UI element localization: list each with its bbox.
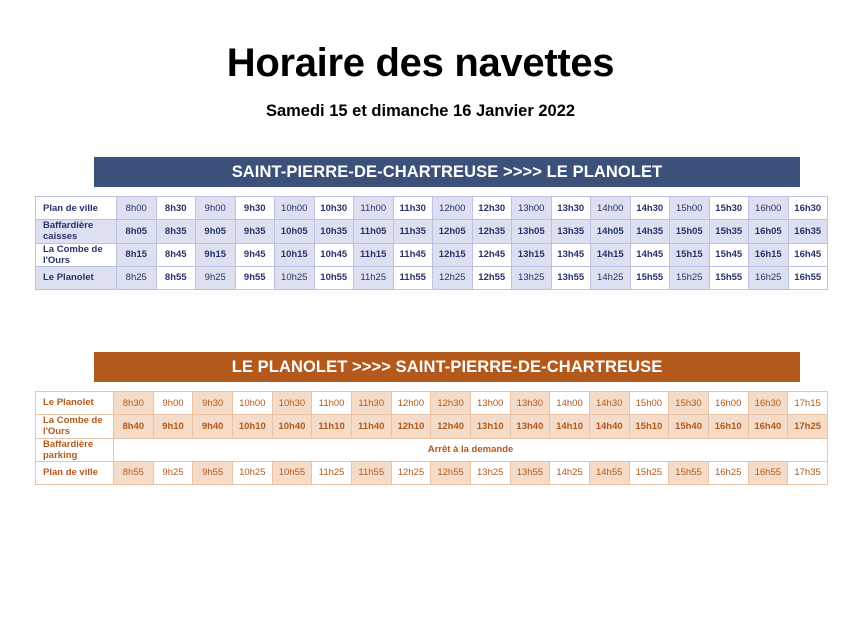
time-cell: 14h10 <box>550 415 590 438</box>
time-cell: 16h30 <box>788 197 828 220</box>
banner-outbound: SAINT-PIERRE-DE-CHARTREUSE >>>> LE PLANO… <box>94 157 800 187</box>
time-cell: 10h35 <box>314 220 354 243</box>
time-cell: 12h00 <box>391 392 431 415</box>
time-cell: 9h55 <box>235 266 275 289</box>
time-cell: 16h00 <box>708 392 748 415</box>
time-cell: 13h45 <box>551 243 591 266</box>
row-header-3: Baffardière parking <box>36 438 114 461</box>
time-cell: 16h55 <box>788 266 828 289</box>
time-cell: 8h00 <box>117 197 157 220</box>
time-cell: 11h30 <box>351 392 391 415</box>
time-cell: 10h30 <box>314 197 354 220</box>
time-cell: 11h00 <box>312 392 352 415</box>
time-cell: 15h25 <box>670 266 710 289</box>
on-demand-stop-note: Arrêt à la demande <box>114 438 828 461</box>
time-cell: 10h10 <box>232 415 272 438</box>
time-cell: 9h30 <box>235 197 275 220</box>
time-cell: 10h00 <box>275 197 315 220</box>
time-cell: 13h05 <box>512 220 552 243</box>
time-cell: 16h00 <box>749 197 789 220</box>
time-cell: 9h00 <box>153 392 193 415</box>
time-cell: 11h25 <box>312 461 352 484</box>
time-cell: 12h55 <box>472 266 512 289</box>
time-cell: 14h40 <box>589 415 629 438</box>
time-cell: 15h25 <box>629 461 669 484</box>
time-cell: 9h15 <box>196 243 236 266</box>
time-cell: 17h35 <box>788 461 828 484</box>
time-cell: 15h00 <box>670 197 710 220</box>
row-header-2: Baffardière caisses <box>36 220 117 243</box>
row-header-1: Plan de ville <box>36 197 117 220</box>
time-cell: 8h15 <box>117 243 157 266</box>
time-cell: 14h00 <box>550 392 590 415</box>
time-cell: 8h05 <box>117 220 157 243</box>
time-cell: 17h15 <box>788 392 828 415</box>
time-cell: 13h30 <box>551 197 591 220</box>
time-cell: 9h25 <box>153 461 193 484</box>
row-header-4: Le Planolet <box>36 266 117 289</box>
time-cell: 13h30 <box>510 392 550 415</box>
time-cell: 9h25 <box>196 266 236 289</box>
time-cell: 16h30 <box>748 392 788 415</box>
time-cell: 9h00 <box>196 197 236 220</box>
time-cell: 11h40 <box>351 415 391 438</box>
time-cell: 15h10 <box>629 415 669 438</box>
time-cell: 10h30 <box>272 392 312 415</box>
time-cell: 16h35 <box>788 220 828 243</box>
time-cell: 13h25 <box>512 266 552 289</box>
time-cell: 8h30 <box>114 392 154 415</box>
time-cell: 9h10 <box>153 415 193 438</box>
time-cell: 13h40 <box>510 415 550 438</box>
table-outbound: Plan de ville8h008h309h009h3010h0010h301… <box>35 196 828 290</box>
time-cell: 14h05 <box>591 220 631 243</box>
table-row: La Combe de l'Ours8h158h459h159h4510h151… <box>36 243 828 266</box>
time-cell: 11h35 <box>393 220 433 243</box>
time-cell: 11h00 <box>354 197 394 220</box>
time-cell: 8h30 <box>156 197 196 220</box>
table-row: Le Planolet8h258h559h259h5510h2510h5511h… <box>36 266 828 289</box>
time-cell: 8h40 <box>114 415 154 438</box>
time-cell: 11h15 <box>354 243 394 266</box>
time-cell: 14h15 <box>591 243 631 266</box>
table-row: Plan de ville8h008h309h009h3010h0010h301… <box>36 197 828 220</box>
row-header-1: Le Planolet <box>36 392 114 415</box>
time-cell: 12h25 <box>433 266 473 289</box>
time-cell: 12h15 <box>433 243 473 266</box>
table-return: Le Planolet8h309h009h3010h0010h3011h0011… <box>35 391 828 485</box>
time-cell: 12h35 <box>472 220 512 243</box>
time-cell: 12h10 <box>391 415 431 438</box>
shuttle-timetable-page: Horaire des navettes Samedi 15 et dimanc… <box>0 42 841 637</box>
time-cell: 13h00 <box>512 197 552 220</box>
time-cell: 10h00 <box>232 392 272 415</box>
table-row: La Combe de l'Ours8h409h109h4010h1010h40… <box>36 415 828 438</box>
time-cell: 15h05 <box>670 220 710 243</box>
time-cell: 9h45 <box>235 243 275 266</box>
time-cell: 14h25 <box>550 461 590 484</box>
time-cell: 12h00 <box>433 197 473 220</box>
row-header-4: Plan de ville <box>36 461 114 484</box>
time-cell: 13h15 <box>512 243 552 266</box>
time-cell: 16h15 <box>749 243 789 266</box>
time-cell: 8h25 <box>117 266 157 289</box>
time-cell: 8h55 <box>114 461 154 484</box>
time-cell: 13h00 <box>470 392 510 415</box>
time-cell: 15h00 <box>629 392 669 415</box>
time-cell: 14h30 <box>630 197 670 220</box>
time-cell: 10h45 <box>314 243 354 266</box>
timetable-return: LE PLANOLET >>>> SAINT-PIERRE-DE-CHARTRE… <box>35 352 830 485</box>
time-cell: 16h40 <box>748 415 788 438</box>
time-cell: 14h00 <box>591 197 631 220</box>
time-cell: 15h40 <box>669 415 709 438</box>
time-cell: 16h05 <box>749 220 789 243</box>
time-cell: 15h30 <box>709 197 749 220</box>
time-cell: 15h30 <box>669 392 709 415</box>
table-outbound-body: Plan de ville8h008h309h009h3010h0010h301… <box>36 197 828 290</box>
time-cell: 9h05 <box>196 220 236 243</box>
time-cell: 11h45 <box>393 243 433 266</box>
time-cell: 14h35 <box>630 220 670 243</box>
time-cell: 16h10 <box>708 415 748 438</box>
page-subtitle: Samedi 15 et dimanche 16 Janvier 2022 <box>0 102 841 121</box>
time-cell: 16h25 <box>708 461 748 484</box>
time-cell: 13h25 <box>470 461 510 484</box>
time-cell: 16h45 <box>788 243 828 266</box>
banner-return: LE PLANOLET >>>> SAINT-PIERRE-DE-CHARTRE… <box>94 352 800 382</box>
time-cell: 11h25 <box>354 266 394 289</box>
time-cell: 9h35 <box>235 220 275 243</box>
time-cell: 12h45 <box>472 243 512 266</box>
time-cell: 13h35 <box>551 220 591 243</box>
time-cell: 11h55 <box>393 266 433 289</box>
time-cell: 17h25 <box>788 415 828 438</box>
time-cell: 14h25 <box>591 266 631 289</box>
time-cell: 12h40 <box>431 415 471 438</box>
time-cell: 10h55 <box>272 461 312 484</box>
time-cell: 15h35 <box>709 220 749 243</box>
timetable-outbound: SAINT-PIERRE-DE-CHARTREUSE >>>> LE PLANO… <box>35 157 830 290</box>
time-cell: 10h40 <box>272 415 312 438</box>
time-cell: 10h05 <box>275 220 315 243</box>
table-row: Baffardière parkingArrêt à la demande <box>36 438 828 461</box>
row-header-2: La Combe de l'Ours <box>36 415 114 438</box>
time-cell: 16h25 <box>749 266 789 289</box>
time-cell: 14h30 <box>589 392 629 415</box>
time-cell: 13h55 <box>551 266 591 289</box>
time-cell: 8h55 <box>156 266 196 289</box>
time-cell: 10h25 <box>232 461 272 484</box>
time-cell: 14h45 <box>630 243 670 266</box>
time-cell: 11h30 <box>393 197 433 220</box>
time-cell: 14h55 <box>589 461 629 484</box>
table-row: Le Planolet8h309h009h3010h0010h3011h0011… <box>36 392 828 415</box>
page-title: Horaire des navettes <box>0 42 841 84</box>
time-cell: 12h55 <box>431 461 471 484</box>
time-cell: 13h10 <box>470 415 510 438</box>
time-cell: 10h25 <box>275 266 315 289</box>
time-cell: 12h25 <box>391 461 431 484</box>
time-cell: 11h05 <box>354 220 394 243</box>
time-cell: 12h30 <box>472 197 512 220</box>
time-cell: 8h45 <box>156 243 196 266</box>
time-cell: 11h55 <box>351 461 391 484</box>
time-cell: 12h05 <box>433 220 473 243</box>
table-return-body: Le Planolet8h309h009h3010h0010h3011h0011… <box>36 392 828 485</box>
time-cell: 9h40 <box>193 415 233 438</box>
time-cell: 10h15 <box>275 243 315 266</box>
row-header-3: La Combe de l'Ours <box>36 243 117 266</box>
time-cell: 15h55 <box>669 461 709 484</box>
time-cell: 9h30 <box>193 392 233 415</box>
time-cell: 15h45 <box>709 243 749 266</box>
time-cell: 10h55 <box>314 266 354 289</box>
time-cell: 15h55 <box>630 266 670 289</box>
table-row: Plan de ville8h559h259h5510h2510h5511h25… <box>36 461 828 484</box>
time-cell: 15h55 <box>709 266 749 289</box>
time-cell: 8h35 <box>156 220 196 243</box>
time-cell: 15h15 <box>670 243 710 266</box>
time-cell: 12h30 <box>431 392 471 415</box>
time-cell: 16h55 <box>748 461 788 484</box>
table-row: Baffardière caisses8h058h359h059h3510h05… <box>36 220 828 243</box>
time-cell: 11h10 <box>312 415 352 438</box>
time-cell: 9h55 <box>193 461 233 484</box>
time-cell: 13h55 <box>510 461 550 484</box>
